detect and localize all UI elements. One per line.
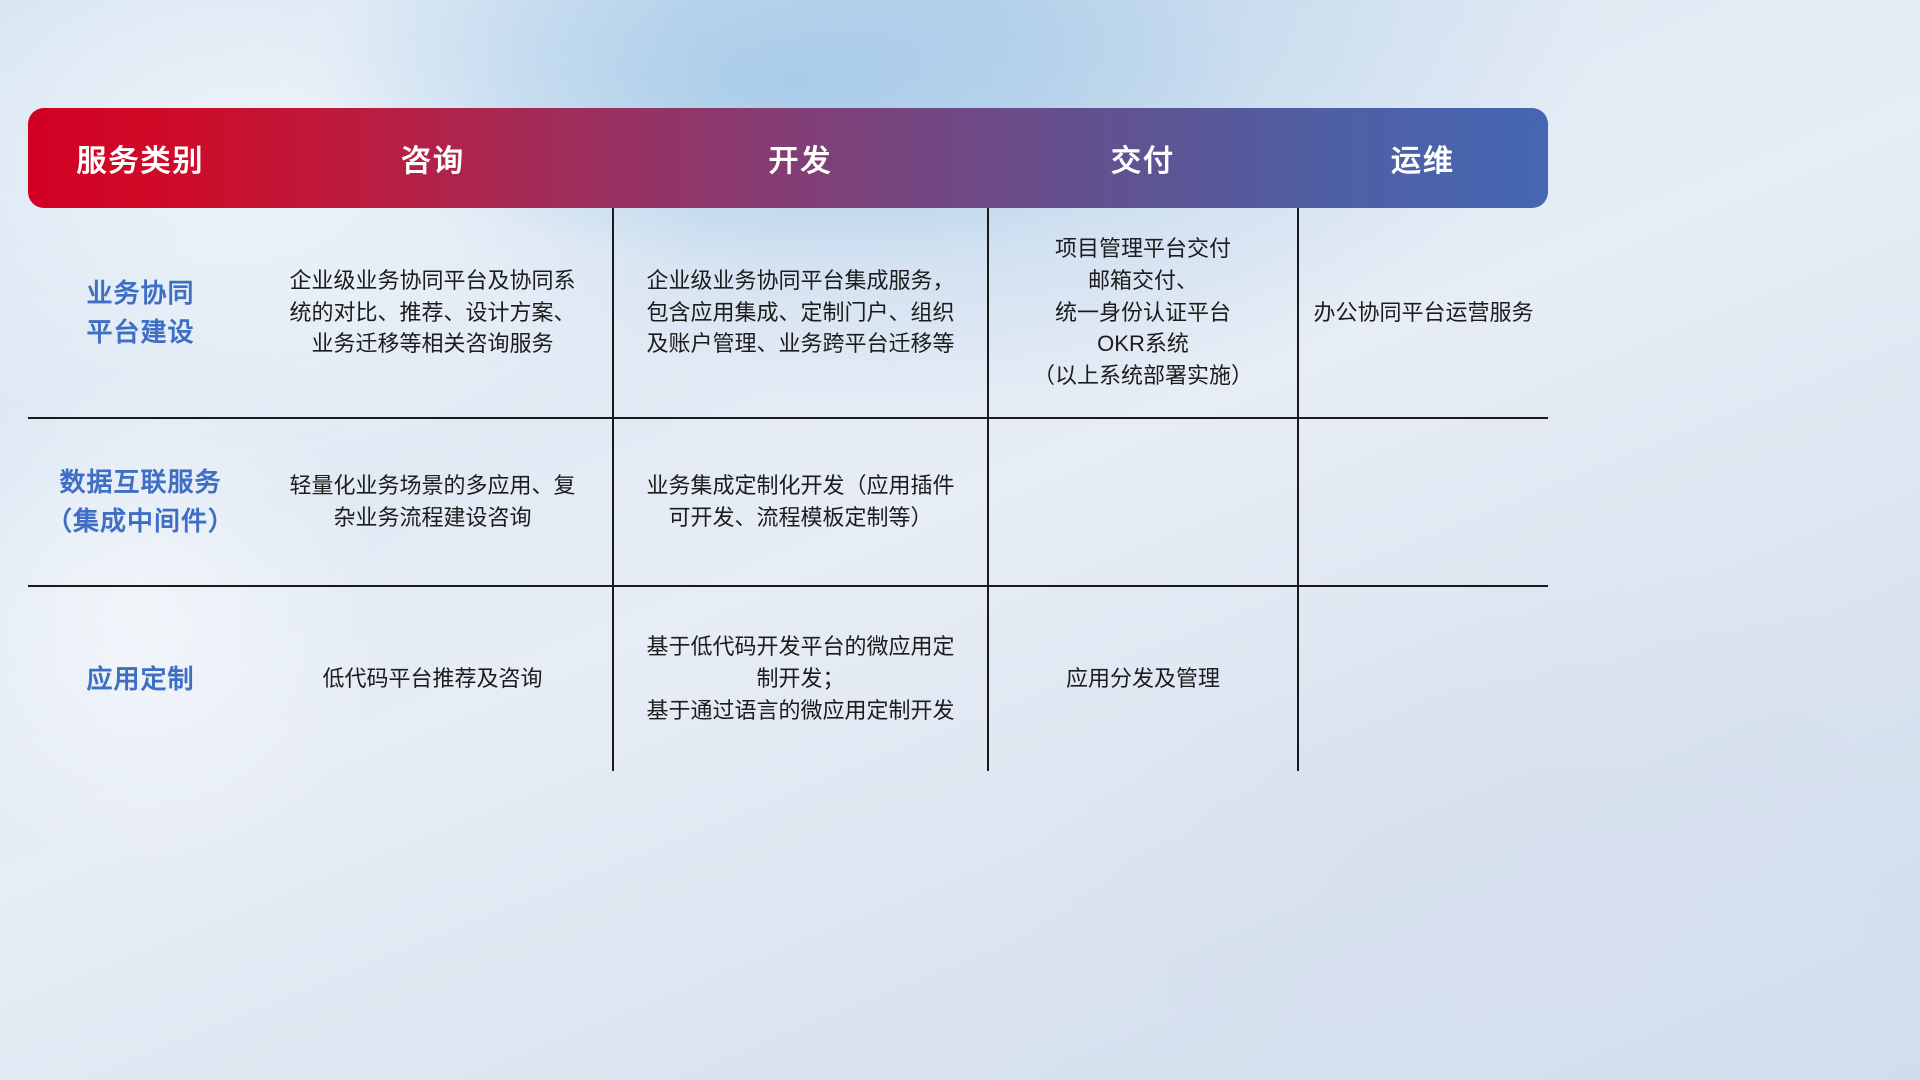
row-category-label: 业务协同 平台建设: [28, 208, 253, 418]
cell-operations: [1298, 418, 1548, 586]
service-matrix-table-container: 服务类别 咨询 开发 交付 运维 业务协同 平台建设 企业级业务协同平台及协同系…: [28, 108, 1548, 771]
header-cell-delivery: 交付: [988, 108, 1298, 208]
table-row: 应用定制 低代码平台推荐及咨询 基于低代码开发平台的微应用定 制开发； 基于通过…: [28, 586, 1548, 771]
table-header-row: 服务类别 咨询 开发 交付 运维: [28, 108, 1548, 208]
page-background: 服务类别 咨询 开发 交付 运维 业务协同 平台建设 企业级业务协同平台及协同系…: [0, 0, 1920, 1080]
cell-development: 业务集成定制化开发（应用插件 可开发、流程模板定制等）: [613, 418, 988, 586]
header-cell-development: 开发: [613, 108, 988, 208]
cell-delivery: 应用分发及管理: [988, 586, 1298, 771]
table-body: 业务协同 平台建设 企业级业务协同平台及协同系 统的对比、推荐、设计方案、 业务…: [28, 208, 1548, 771]
cell-operations: [1298, 586, 1548, 771]
header-cell-operations: 运维: [1298, 108, 1548, 208]
table-row: 业务协同 平台建设 企业级业务协同平台及协同系 统的对比、推荐、设计方案、 业务…: [28, 208, 1548, 418]
cell-consulting: 轻量化业务场景的多应用、复 杂业务流程建设咨询: [253, 418, 613, 586]
table-header: 服务类别 咨询 开发 交付 运维: [28, 108, 1548, 208]
cell-consulting: 低代码平台推荐及咨询: [253, 586, 613, 771]
header-cell-consulting: 咨询: [253, 108, 613, 208]
cell-operations: 办公协同平台运营服务: [1298, 208, 1548, 418]
row-category-label: 数据互联服务 （集成中间件）: [28, 418, 253, 586]
header-cell-category: 服务类别: [28, 108, 253, 208]
cell-development: 企业级业务协同平台集成服务， 包含应用集成、定制门户、组织 及账户管理、业务跨平…: [613, 208, 988, 418]
row-category-label: 应用定制: [28, 586, 253, 771]
cell-consulting: 企业级业务协同平台及协同系 统的对比、推荐、设计方案、 业务迁移等相关咨询服务: [253, 208, 613, 418]
table-row: 数据互联服务 （集成中间件） 轻量化业务场景的多应用、复 杂业务流程建设咨询 业…: [28, 418, 1548, 586]
cell-delivery: 项目管理平台交付 邮箱交付、 统一身份认证平台 OKR系统 （以上系统部署实施）: [988, 208, 1298, 418]
cell-delivery: [988, 418, 1298, 586]
cell-development: 基于低代码开发平台的微应用定 制开发； 基于通过语言的微应用定制开发: [613, 586, 988, 771]
service-matrix-table: 服务类别 咨询 开发 交付 运维 业务协同 平台建设 企业级业务协同平台及协同系…: [28, 108, 1548, 771]
